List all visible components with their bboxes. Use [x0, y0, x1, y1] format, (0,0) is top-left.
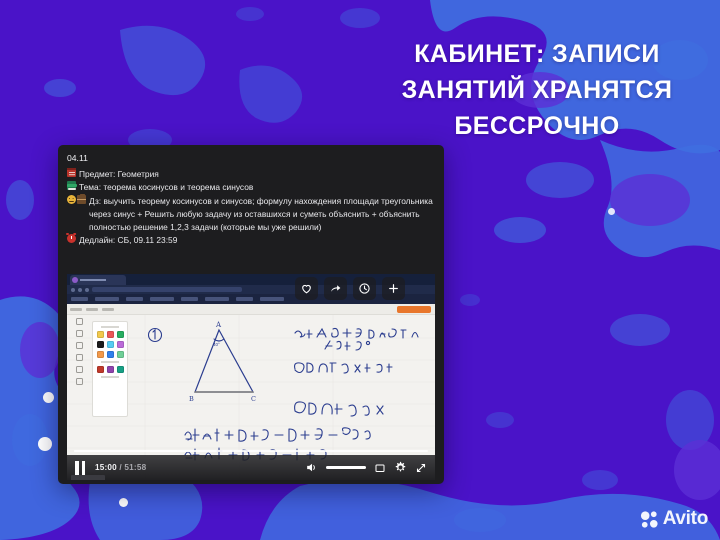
player-action-buttons[interactable]: [295, 277, 405, 300]
total-time: 51:58: [124, 463, 146, 472]
reload-icon: [85, 288, 89, 292]
bookmark-item: [236, 297, 253, 300]
progress-fill: [74, 450, 177, 453]
headline-line-1: КАБИНЕТ: ЗАПИСИ: [372, 36, 702, 72]
decorative-dot: [608, 208, 615, 215]
decorative-dot: [119, 498, 128, 507]
volume-slider[interactable]: [326, 466, 366, 469]
avito-brand-text: Avito: [663, 508, 708, 530]
forward-icon: [78, 288, 82, 292]
post-deadline-label: Дедлайн: СБ, 09.11 23:59: [79, 234, 435, 247]
browser-tab: [70, 275, 126, 285]
post-line-subject: Предмет: Геометрия: [67, 168, 435, 181]
promo-image-root: КАБИНЕТ: ЗАПИСИ ЗАНЯТИЙ ХРАНЯТСЯ БЕССРОЧ…: [0, 0, 720, 540]
alarm-clock-emoji: [67, 234, 76, 246]
svg-text:B: B: [189, 395, 194, 403]
headline-line-2: ЗАНЯТИЙ ХРАНЯТСЯ: [372, 72, 702, 108]
progress-track[interactable]: [74, 450, 428, 453]
bookmark-item: [71, 297, 88, 300]
plus-icon: [387, 282, 400, 295]
post-line-homework: Дз: выучить теорему косинусов и синусов;…: [67, 195, 435, 233]
decorative-dot: [38, 437, 52, 451]
post-homework-label: Дз: выучить теорему косинусов и синусов;…: [89, 195, 435, 233]
bookmark-item: [126, 297, 143, 300]
books-emoji: [67, 181, 76, 193]
post-text-block: 04.11 Предмет: Геометрия Тема: теорема к…: [67, 152, 435, 247]
tooltip-content: [71, 475, 105, 480]
pause-button[interactable]: [75, 461, 87, 475]
bookmark-item: [205, 297, 229, 300]
volume-button[interactable]: [305, 461, 318, 474]
menu-item: [102, 308, 114, 311]
pip-button[interactable]: [374, 462, 386, 474]
briefcase-emoji: [77, 195, 86, 204]
url-field: [92, 287, 242, 292]
add-button[interactable]: [382, 277, 405, 300]
svg-text:40°: 40°: [213, 342, 220, 347]
time-display: 15:00 / 51:58: [95, 463, 146, 472]
history-button[interactable]: [353, 277, 376, 300]
gear-icon: [394, 461, 407, 474]
headline: КАБИНЕТ: ЗАПИСИ ЗАНЯТИЙ ХРАНЯТСЯ БЕССРОЧ…: [372, 36, 702, 144]
like-button[interactable]: [295, 277, 318, 300]
fullscreen-button[interactable]: [415, 462, 427, 474]
post-line-topic: Тема: теорема косинусов и теорема синусо…: [67, 181, 435, 194]
settings-button[interactable]: [394, 461, 407, 474]
fullscreen-icon: [415, 462, 427, 474]
calendar-emoji: [67, 168, 76, 180]
avito-dots-logo: [640, 510, 659, 529]
face-emoji: [67, 195, 76, 204]
decorative-dot: [43, 392, 54, 403]
avatar: [72, 277, 78, 283]
lesson-post-card: 04.11 Предмет: Геометрия Тема: теорема к…: [58, 145, 444, 484]
player-controls-bar[interactable]: 15:00 / 51:58: [67, 455, 435, 480]
headline-line-3: БЕССРОЧНО: [372, 108, 702, 144]
whiteboard-app-header: [67, 304, 435, 315]
post-date: 04.11: [67, 152, 435, 165]
share-button[interactable]: [324, 277, 347, 300]
bookmark-item: [95, 297, 119, 300]
bookmark-item: [181, 297, 198, 300]
progress-bar[interactable]: [67, 447, 435, 455]
menu-item: [70, 308, 82, 311]
post-line-deadline: Дедлайн: СБ, 09.11 23:59: [67, 234, 435, 247]
current-time: 15:00: [95, 463, 117, 472]
share-arrow-icon: [329, 282, 342, 295]
post-topic-label: Тема: теорема косинусов и теорема синусо…: [79, 181, 435, 194]
avito-watermark: Avito: [640, 508, 708, 530]
volume-icon: [305, 461, 318, 474]
svg-text:C: C: [251, 395, 256, 403]
post-subject-label: Предмет: Геометрия: [79, 168, 435, 181]
primary-action-button[interactable]: [397, 306, 431, 313]
svg-text:A: A: [215, 321, 222, 329]
heart-icon: [300, 282, 313, 295]
menu-item: [86, 308, 98, 311]
back-icon: [71, 288, 75, 292]
picture-in-picture-icon: [374, 462, 386, 474]
clock-icon: [358, 282, 371, 295]
bookmark-item: [150, 297, 174, 300]
bookmark-item: [260, 297, 284, 300]
video-player[interactable]: A B C 40°: [67, 274, 435, 480]
